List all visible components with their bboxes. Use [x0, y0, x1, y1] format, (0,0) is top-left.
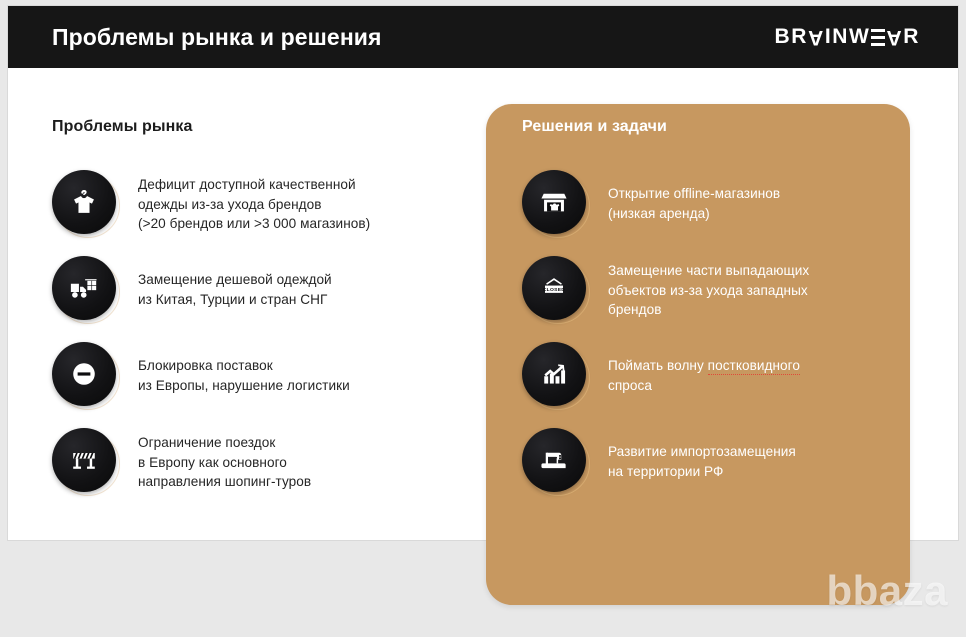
logo-inverted-a-2: A: [886, 25, 903, 49]
text-fragment: Поймать волну: [608, 358, 708, 373]
list-item: Дефицит доступной качественной одежды из…: [52, 170, 472, 234]
text-line: Открытие offline-магазинов: [608, 184, 780, 204]
logo-part-br: BR: [775, 25, 809, 49]
slide-root: Проблемы рынка и решения BRAINWAR Пробле…: [0, 0, 966, 637]
growth-chart-icon: [522, 342, 586, 406]
list-item-text: Ограничение поездок в Европу как основно…: [138, 428, 311, 492]
list-item-text: Замещение дешевой одеждой из Китая, Турц…: [138, 256, 332, 309]
list-item: CLOSED Замещение части выпадающих объект…: [522, 256, 902, 320]
logo-part-inw: INW: [825, 25, 871, 49]
solutions-heading: Решения и задачи: [522, 118, 902, 136]
text-line: спроса: [608, 376, 800, 396]
storefront-icon: [522, 170, 586, 234]
list-item-text: Дефицит доступной качественной одежды из…: [138, 170, 370, 234]
misspelled-word: постковидного: [708, 358, 800, 375]
text-line: объектов из-за ухода западных: [608, 281, 809, 301]
logo-barred-e: [871, 29, 885, 46]
text-line: Блокировка поставок: [138, 356, 350, 376]
list-item: Блокировка поставок из Европы, нарушение…: [52, 342, 472, 406]
brainwear-logo: BRAINWAR: [775, 25, 920, 49]
list-item-text: Открытие offline-магазинов (низкая аренд…: [608, 170, 780, 223]
solutions-card: Решения и задачи Открытие off: [486, 104, 910, 605]
logo-part-r: R: [903, 25, 920, 49]
logo-inverted-a-1: A: [808, 25, 825, 49]
text-line: одежды из-за ухода брендов: [138, 195, 370, 215]
storefront-glyph: [539, 187, 569, 217]
no-entry-glyph: [69, 359, 99, 389]
text-line: брендов: [608, 300, 809, 320]
delivery-truck-icon: [52, 256, 116, 320]
sewing-machine-glyph: [539, 445, 569, 475]
list-item: Поймать волну постковидного спроса: [522, 342, 902, 406]
growth-chart-glyph: [539, 359, 569, 389]
text-line: направления шопинг-туров: [138, 472, 311, 492]
text-line: (>20 брендов или >3 000 магазинов): [138, 214, 370, 234]
text-line: из Китая, Турции и стран СНГ: [138, 290, 332, 310]
problems-heading: Проблемы рынка: [52, 118, 472, 136]
solutions-column: Решения и задачи Открытие off: [522, 118, 902, 492]
text-line: Поймать волну постковидного: [608, 356, 800, 376]
sewing-machine-icon: [522, 428, 586, 492]
list-item-text: Поймать волну постковидного спроса: [608, 342, 800, 395]
problems-column: Проблемы рынка Дефицит доступной качеств…: [52, 118, 472, 492]
text-line: в Европу как основного: [138, 453, 311, 473]
text-line: (низкая аренда): [608, 204, 780, 224]
tshirt-hanger-icon: [52, 170, 116, 234]
list-item-text: Развитие импортозамещения на территории …: [608, 428, 796, 481]
road-barrier-icon: [52, 428, 116, 492]
text-line: Развитие импортозамещения: [608, 442, 796, 462]
road-barrier-glyph: [69, 445, 99, 475]
list-item-text: Блокировка поставок из Европы, нарушение…: [138, 342, 350, 395]
delivery-truck-glyph: [69, 273, 99, 303]
text-line: Ограничение поездок: [138, 433, 311, 453]
text-line: Замещение части выпадающих: [608, 261, 809, 281]
header-bar: Проблемы рынка и решения BRAINWAR: [8, 6, 958, 68]
text-line: на территории РФ: [608, 462, 796, 482]
page-title: Проблемы рынка и решения: [52, 24, 382, 51]
text-line: из Европы, нарушение логистики: [138, 376, 350, 396]
closed-sign-icon: CLOSED: [522, 256, 586, 320]
list-item: Развитие импортозамещения на территории …: [522, 428, 902, 492]
list-item: Ограничение поездок в Европу как основно…: [52, 428, 472, 492]
list-item-text: Замещение части выпадающих объектов из-з…: [608, 256, 809, 320]
tshirt-hanger-glyph: [69, 187, 99, 217]
list-item: Замещение дешевой одеждой из Китая, Турц…: [52, 256, 472, 320]
text-line: Замещение дешевой одеждой: [138, 270, 332, 290]
list-item: Открытие offline-магазинов (низкая аренд…: [522, 170, 902, 234]
svg-text:CLOSED: CLOSED: [543, 287, 565, 293]
no-entry-icon: [52, 342, 116, 406]
closed-sign-glyph: CLOSED: [539, 273, 569, 303]
text-line: Дефицит доступной качественной: [138, 175, 370, 195]
